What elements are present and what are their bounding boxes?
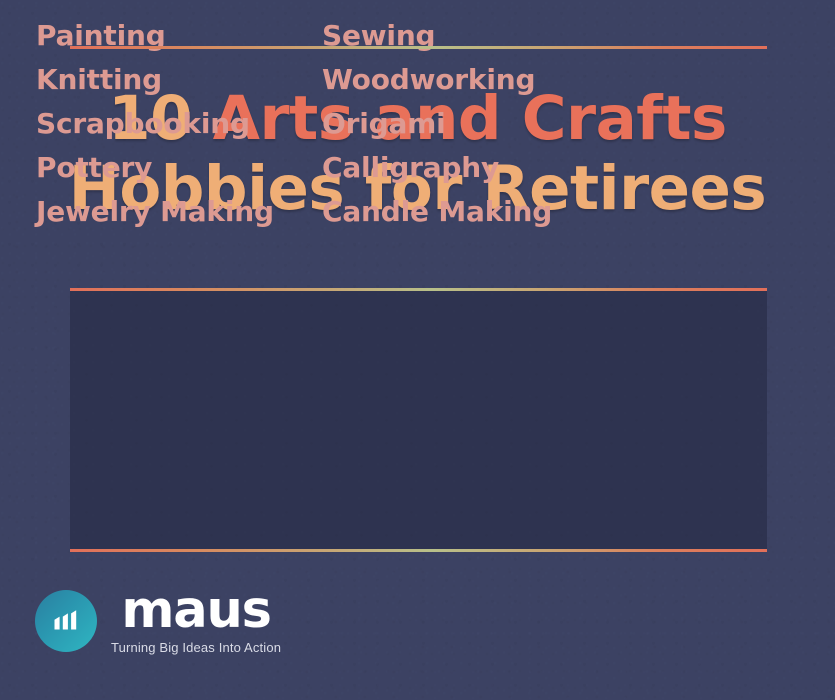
brand-logo: maus Turning Big Ideas Into Action xyxy=(35,588,281,655)
maus-bars-logo-icon xyxy=(35,590,97,652)
divider-middle xyxy=(70,288,767,291)
brand-tagline: Turning Big Ideas Into Action xyxy=(111,640,281,655)
brand-text: maus Turning Big Ideas Into Action xyxy=(111,588,281,655)
list-item: Candle Making xyxy=(322,198,697,226)
hobby-list-column-left: Painting Knitting Scrapbooking Pottery J… xyxy=(0,0,310,261)
hobby-list-panel xyxy=(70,289,767,550)
divider-top xyxy=(70,46,767,49)
brand-name: maus xyxy=(121,588,270,635)
panel-texture xyxy=(70,289,767,550)
list-item: Jewelry Making xyxy=(36,198,310,226)
hobby-list: Painting Knitting Scrapbooking Pottery J… xyxy=(0,0,697,261)
list-item: Origami xyxy=(322,110,697,138)
list-item: Pottery xyxy=(36,154,310,182)
divider-bottom xyxy=(70,549,767,552)
list-item: Scrapbooking xyxy=(36,110,310,138)
poster-canvas: 10 Arts and Crafts Hobbies for Retirees … xyxy=(0,0,835,700)
list-item: Woodworking xyxy=(322,66,697,94)
hobby-list-column-right: Sewing Woodworking Origami Calligraphy C… xyxy=(310,0,697,261)
list-item: Knitting xyxy=(36,66,310,94)
list-item: Calligraphy xyxy=(322,154,697,182)
